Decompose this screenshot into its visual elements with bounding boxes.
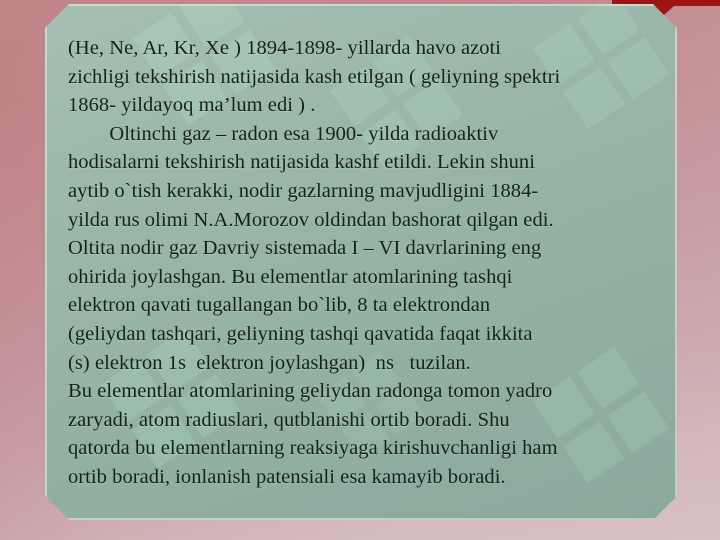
content-panel: ❖ ❖ ❖ ❖ ❖ ❖ (He, Ne, Ar, Kr, Xe ) 1894-1… — [45, 4, 677, 520]
body-paragraph: (He, Ne, Ar, Kr, Xe ) 1894-1898- yillard… — [68, 34, 668, 492]
slide-body-text: (He, Ne, Ar, Kr, Xe ) 1894-1898- yillard… — [68, 34, 668, 492]
presentation-slide: ❖ ❖ ❖ ❖ ❖ ❖ (He, Ne, Ar, Kr, Xe ) 1894-1… — [0, 0, 720, 540]
